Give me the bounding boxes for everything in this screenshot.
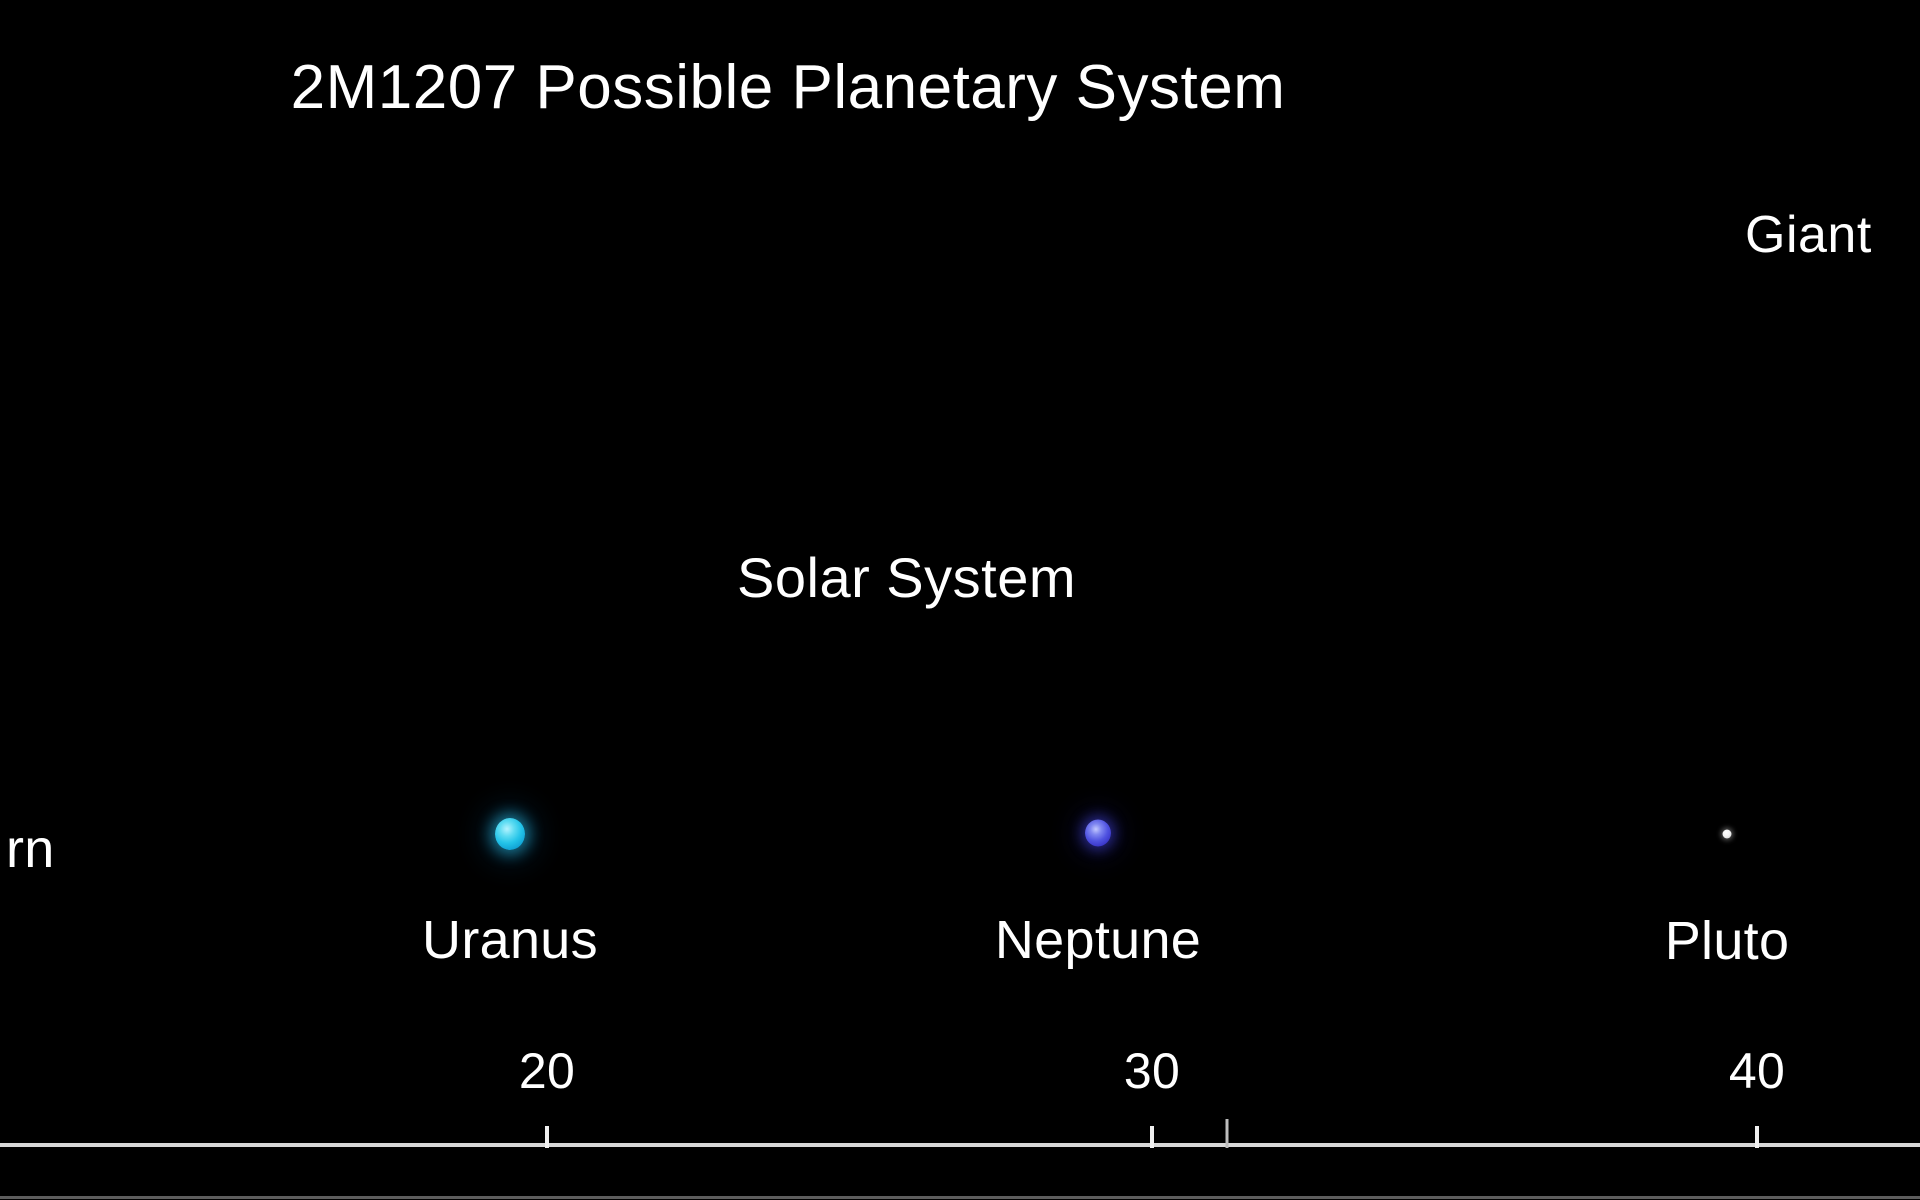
axis-tick-label-40: 40: [1729, 1042, 1785, 1100]
planet-uranus-label: Uranus: [422, 909, 598, 971]
planet-neptune-label: Neptune: [995, 909, 1201, 971]
axis-minor-tick: [1226, 1119, 1229, 1148]
axis-tick-label-30: 30: [1124, 1042, 1180, 1100]
planet-neptune-dot: [1085, 820, 1111, 847]
diagram-canvas: 2M1207 Possible Planetary System Giant S…: [0, 0, 1920, 1200]
distance-axis: 20 30 40: [0, 1143, 1920, 1148]
bottom-divider: [0, 1196, 1920, 1199]
axis-tick-label-20: 20: [519, 1042, 575, 1100]
planet-pluto-label: Pluto: [1665, 910, 1790, 972]
planet-saturn-label: rn: [6, 818, 55, 880]
planet-uranus-dot: [495, 818, 525, 850]
axis-tick-20: [545, 1126, 549, 1148]
planet-row: rn Uranus Neptune Pluto: [0, 0, 1920, 1200]
axis-tick-30: [1150, 1126, 1154, 1148]
axis-baseline: [0, 1143, 1920, 1147]
axis-tick-40: [1755, 1126, 1759, 1148]
planet-pluto-dot: [1723, 830, 1732, 839]
